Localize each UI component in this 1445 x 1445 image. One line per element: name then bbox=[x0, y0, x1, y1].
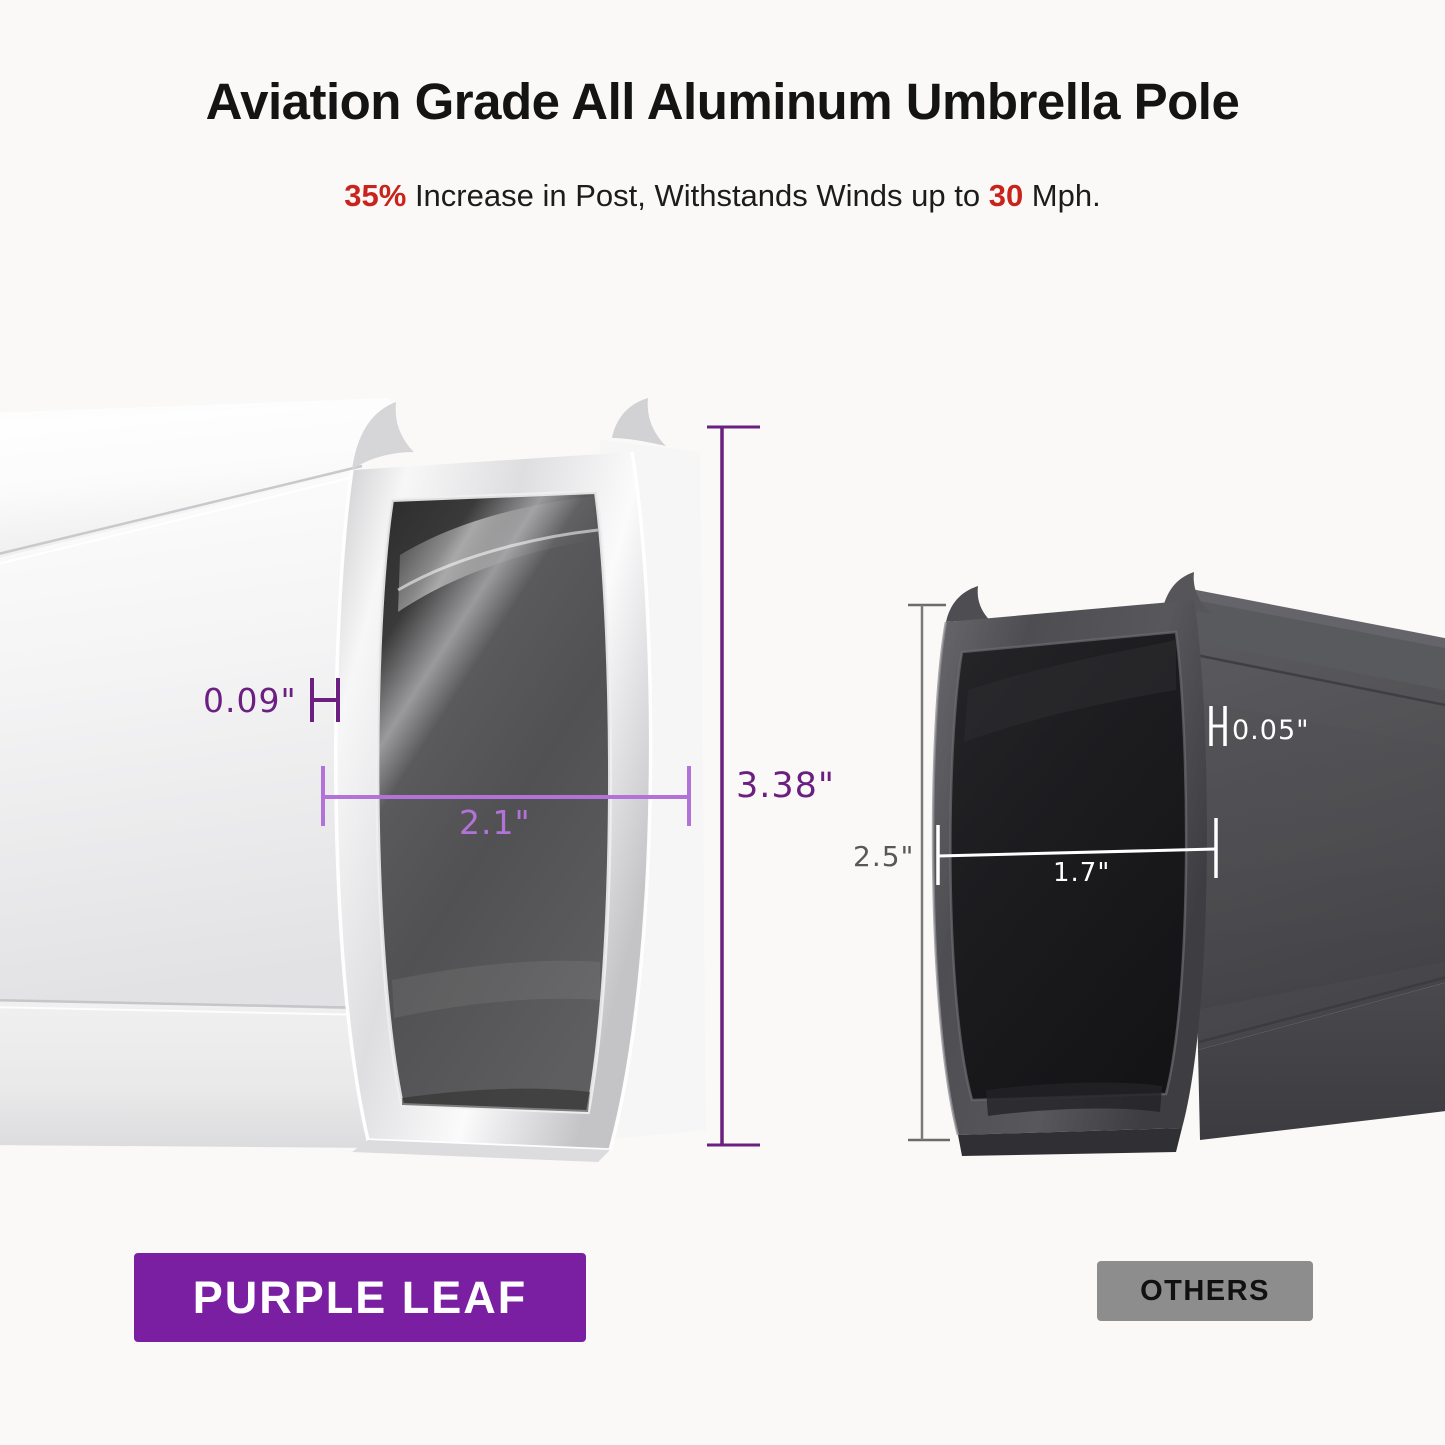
right-pole-top-fin-near bbox=[946, 586, 996, 626]
left-pole-cavity-gloss bbox=[398, 496, 596, 612]
purple-leaf-pole-illustration bbox=[0, 398, 706, 1162]
left-wall-thickness-label: 0.09" bbox=[203, 681, 297, 720]
left-pole-base-shadow bbox=[352, 1140, 610, 1162]
left-pole-cut-face-rim bbox=[336, 452, 651, 1150]
right-pole-rim-highlight bbox=[933, 622, 958, 1135]
subtitle-middle-text: Increase in Post, Withstands Winds up to bbox=[406, 178, 988, 213]
product-illustrations bbox=[0, 0, 1445, 1445]
left-pole-dimension-lines bbox=[312, 427, 760, 1145]
left-pole-cavity bbox=[377, 492, 610, 1112]
left-pole-cavity-edge bbox=[377, 492, 610, 1112]
right-pole-top-fin-far bbox=[1162, 572, 1212, 614]
left-pole-cavity-bottom-lip bbox=[402, 1089, 590, 1112]
left-outer-height-label: 3.38" bbox=[736, 766, 835, 806]
right-pole-seam-lower bbox=[1199, 975, 1445, 1042]
page-title: Aviation Grade All Aluminum Umbrella Pol… bbox=[0, 72, 1445, 131]
left-pole-cavity-lower-reflection bbox=[392, 961, 600, 1018]
left-pole-top-facet bbox=[0, 402, 400, 560]
right-pole-lower-facet bbox=[1198, 980, 1445, 1140]
left-pole-seam-upper-gloss bbox=[0, 476, 358, 566]
right-pole-mid-tone bbox=[1190, 700, 1445, 1010]
brand-badge-others: OTHERS bbox=[1097, 1261, 1313, 1321]
right-width-dim-line bbox=[938, 849, 1216, 856]
left-pole-top-fin-near bbox=[352, 402, 414, 470]
right-pole-body-facet bbox=[1190, 640, 1445, 1050]
brand-badge-purple-leaf: PURPLE LEAF bbox=[134, 1253, 586, 1342]
left-inner-width-label: 2.1" bbox=[459, 803, 531, 842]
right-pole-seam-upper bbox=[1196, 655, 1445, 707]
left-pole-seam-upper bbox=[0, 466, 362, 556]
right-pole-top-highlight bbox=[1184, 588, 1445, 650]
others-pole-illustration bbox=[933, 572, 1445, 1156]
left-pole-rim-highlight bbox=[336, 452, 651, 1150]
stat-percent-increase: 35% bbox=[344, 178, 406, 213]
left-pole-cavity-streak bbox=[398, 530, 598, 590]
subtitle-trailing-text: Mph. bbox=[1023, 178, 1101, 213]
left-pole-middle-facet bbox=[0, 470, 370, 1010]
left-pole-top-highlight bbox=[0, 398, 392, 421]
left-pole-seam-lower-gloss bbox=[0, 1007, 368, 1015]
left-pole-lower-facet bbox=[0, 1000, 378, 1148]
right-inner-width-label: 1.7" bbox=[1053, 858, 1110, 888]
left-pole-far-wall bbox=[600, 440, 706, 1140]
page-subtitle: 35% Increase in Post, Withstands Winds u… bbox=[0, 178, 1445, 214]
right-pole-top-facet bbox=[1180, 596, 1445, 700]
right-pole-base-shadow bbox=[958, 1128, 1182, 1156]
stat-wind-speed: 30 bbox=[989, 178, 1023, 213]
left-pole-top-fin-far bbox=[612, 398, 666, 446]
right-wall-thickness-label: 0.05" bbox=[1232, 715, 1310, 746]
right-pole-cavity-bottom-lip bbox=[986, 1083, 1162, 1116]
left-pole-seam-lower bbox=[0, 1000, 370, 1008]
right-pole-cavity-gloss bbox=[964, 640, 1176, 742]
right-outer-height-label: 2.5" bbox=[853, 840, 914, 873]
infographic-canvas: Aviation Grade All Aluminum Umbrella Pol… bbox=[0, 0, 1445, 1445]
